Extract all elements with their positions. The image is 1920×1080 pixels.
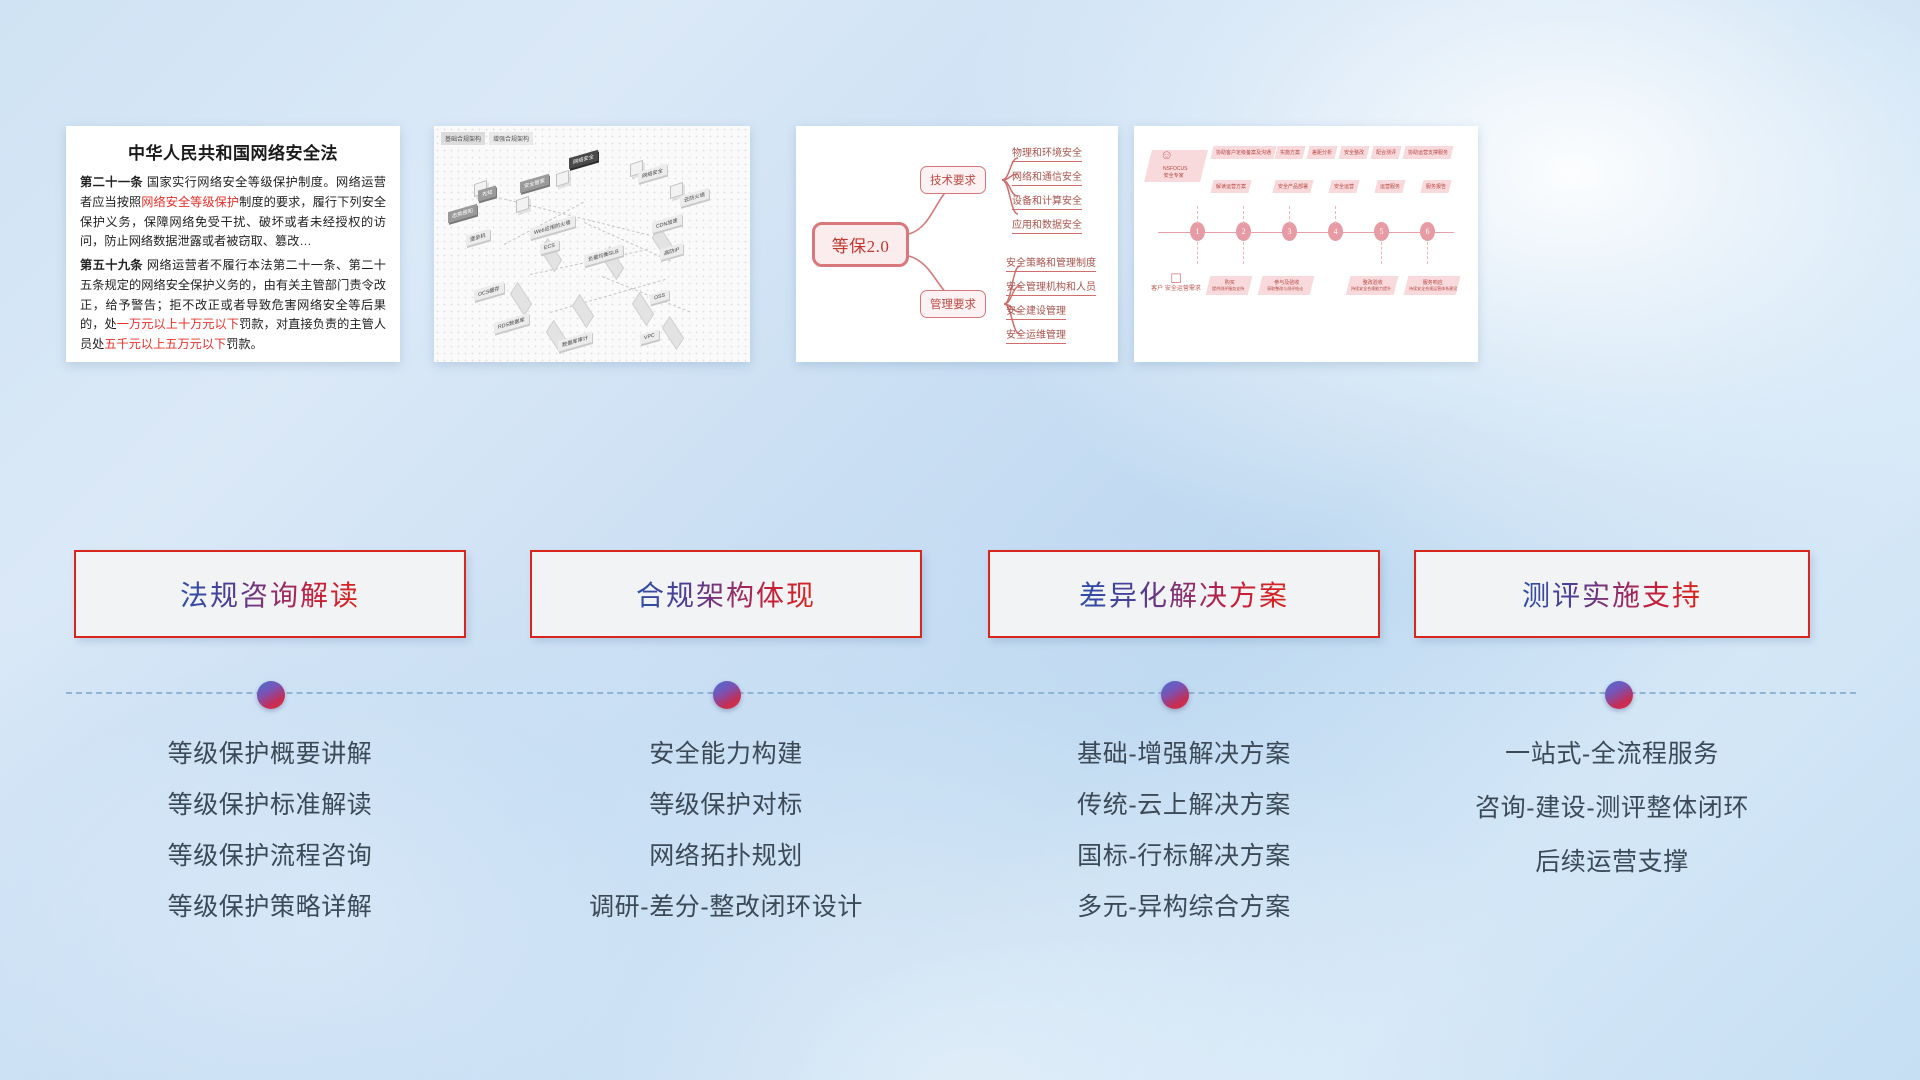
timeline-step-badge: 5 — [1374, 222, 1389, 241]
architecture-node-label: 态势感知 — [448, 204, 477, 223]
service-bottom-chip-title: 服务响应 — [1411, 279, 1455, 286]
person-star-icon: ☺ — [1160, 148, 1173, 161]
mindmap-leaf: 物理和环境安全 — [1012, 144, 1082, 162]
section-heading-box-1[interactable]: 法规咨询解读 — [74, 550, 466, 638]
law-title: 中华人民共和国网络安全法 — [80, 139, 386, 164]
list-item: 安全能力构建 — [530, 742, 922, 767]
service-top-chip: 安全整改 — [1338, 146, 1369, 159]
architecture-node-label: 安全管家 — [520, 174, 549, 193]
card-cybersecurity-law: 中华人民共和国网络安全法 第二十一条 国家实行网络安全等级保护制度。网络运营者应… — [66, 126, 400, 362]
timeline-step-badge: 3 — [1282, 222, 1297, 241]
timeline-tick — [1197, 206, 1198, 224]
card-compliance-architecture: 基础合规架构 增强合规架构 网络安全 — [434, 126, 750, 362]
service-timeline-diagram: NSFOCUS 安全专家 ☺ 协助客户定级备案及沟通 实施方案 差距分析 安全整… — [1134, 126, 1478, 362]
mindmap-leaf: 安全运维管理 — [1006, 326, 1066, 344]
service-top-chip-label: 配合测评 — [1376, 149, 1396, 156]
architecture-diagram: 基础合规架构 增强合规架构 网络安全 — [434, 126, 750, 362]
list-item: 等级保护对标 — [530, 793, 922, 818]
service-top-chip: 实施方案 — [1274, 146, 1305, 159]
list-item: 多元-异构综合方案 — [988, 895, 1380, 920]
mindmap-leaf: 安全策略和管理制度 — [1006, 254, 1096, 272]
service-top-chip: 配合测评 — [1370, 146, 1401, 159]
service-top-chip: 协助运营支撑服务 — [1402, 146, 1453, 159]
timeline-tick — [1335, 206, 1336, 224]
customer-label: 客户 — [1151, 286, 1163, 292]
mindmap-root-node: 等保2.0 — [812, 222, 909, 267]
architecture-node-shape — [516, 196, 529, 213]
service-stage-chip: 安全产品部署 — [1272, 180, 1313, 193]
section-column-2: 安全能力构建 等级保护对标 网络拓扑规划 调研-差分-整改闭环设计 — [530, 742, 922, 946]
article-number-59: 第五十九条 — [80, 258, 143, 272]
mindmap-leaf: 安全管理机构和人员 — [1006, 278, 1096, 296]
architecture-tab-basic[interactable]: 基础合规架构 — [441, 132, 485, 145]
section-column-1: 等级保护概要讲解 等级保护标准解读 等级保护流程咨询 等级保护策略详解 — [74, 742, 466, 946]
customer-sublabel: 安全运营需求 — [1165, 286, 1201, 292]
article-number-21: 第二十一条 — [80, 175, 143, 189]
timeline-marker-1 — [257, 681, 285, 709]
timeline-tick — [1289, 206, 1290, 224]
expert-role: 安全专家 — [1150, 172, 1198, 179]
service-top-chip-label: 差距分析 — [1312, 149, 1332, 156]
section-heading-box-4[interactable]: 测评实施支持 — [1414, 550, 1810, 638]
service-bottom-chip: 整改验收 持续安全合规能力提升 — [1346, 276, 1399, 295]
customer-persona: ☐ 客户 安全运营需求 — [1150, 272, 1202, 293]
list-item: 基础-增强解决方案 — [988, 742, 1380, 767]
section-heading-label: 合规架构体现 — [636, 574, 816, 614]
architecture-node-label: OCS缓存 — [474, 282, 504, 301]
service-top-chip-label: 实施方案 — [1280, 149, 1300, 156]
timeline-step-badge: 2 — [1236, 222, 1251, 241]
law-article-21: 第二十一条 国家实行网络安全等级保护制度。网络运营者应当按照网络安全等级保护制度… — [80, 173, 386, 252]
timeline-marker-4 — [1605, 681, 1633, 709]
section-column-3: 基础-增强解决方案 传统-云上解决方案 国标-行标解决方案 多元-异构综合方案 — [988, 742, 1380, 946]
mindmap-leaf: 网络和通信安全 — [1012, 168, 1082, 186]
architecture-node-shape — [556, 170, 569, 187]
timeline-tick — [1243, 206, 1244, 224]
service-top-chip-label: 安全整改 — [1344, 149, 1364, 156]
timeline-marker-3 — [1161, 681, 1189, 709]
service-bottom-chip-title: 整改验收 — [1353, 279, 1393, 286]
service-bottom-chip-title: 参与及验收 — [1265, 279, 1309, 286]
article-59-after: 罚款。 — [226, 337, 263, 351]
service-bottom-chip-sub: 持续安全合规能力提升 — [1351, 286, 1391, 292]
section-heading-label: 差异化解决方案 — [1079, 574, 1289, 614]
card-service-timeline: NSFOCUS 安全专家 ☺ 协助客户定级备案及沟通 实施方案 差距分析 安全整… — [1134, 126, 1478, 362]
customer-check-icon: ☐ — [1150, 272, 1202, 285]
architecture-node-label: VPC — [640, 329, 659, 344]
service-bottom-chip-sub: 持续安全合规运营体系建设 — [1409, 286, 1453, 292]
service-bottom-chip: 参与及验收 获取整改与测评结论 — [1258, 276, 1315, 295]
expert-icon: ☺ — [1160, 148, 1173, 161]
section-heading-label: 测评实施支持 — [1522, 574, 1702, 614]
list-item: 传统-云上解决方案 — [988, 793, 1380, 818]
service-top-chip: 协助客户定级备案及沟通 — [1210, 146, 1276, 159]
service-bottom-chip-sub: 提供测评服务支持 — [1211, 286, 1245, 292]
service-stage-chip: 服务报告 — [1420, 180, 1451, 193]
mindmap-leaf: 设备和计算安全 — [1012, 192, 1082, 210]
mindmap-branch-management: 管理要求 — [920, 290, 986, 318]
law-article-59: 第五十九条 网络运营者不履行本法第二十一条、第二十五条规定的网络安全保护义务的，… — [80, 256, 386, 355]
list-item: 咨询-建设-测评整体闭环 — [1414, 796, 1810, 821]
service-stage-chip-label: 安全产品部署 — [1278, 183, 1308, 190]
service-top-chip-label: 协助客户定级备案及沟通 — [1216, 149, 1271, 156]
timeline-step-badge: 1 — [1190, 222, 1205, 241]
timeline-step-badge: 4 — [1328, 222, 1343, 241]
list-item: 一站式-全流程服务 — [1414, 742, 1810, 767]
timeline-tick — [1381, 242, 1382, 264]
service-stage-chip-label: 运营服务 — [1380, 183, 1400, 190]
timeline-tick — [1197, 242, 1198, 264]
timeline-marker-2 — [713, 681, 741, 709]
service-top-chip: 差距分析 — [1306, 146, 1337, 159]
service-stage-chip: 解读运营方案 — [1210, 180, 1251, 193]
architecture-node-label: CDN加速 — [652, 214, 682, 233]
architecture-plate — [662, 316, 684, 350]
service-stage-chip-label: 解读运营方案 — [1216, 183, 1246, 190]
section-heading-row: 法规咨询解读 合规架构体现 差异化解决方案 测评实施支持 — [0, 550, 1920, 638]
list-item: 后续运营支撑 — [1414, 850, 1810, 875]
list-item: 等级保护策略详解 — [74, 895, 466, 920]
mindmap-branch-technical: 技术要求 — [920, 166, 986, 194]
architecture-node-label: 云防火墙 — [680, 188, 709, 207]
section-heading-label: 法规咨询解读 — [180, 574, 360, 614]
image-card-row: 中华人民共和国网络安全法 第二十一条 国家实行网络安全等级保护制度。网络运营者应… — [0, 126, 1920, 362]
service-bottom-chip-sub: 获取整改与测评结论 — [1263, 286, 1307, 292]
architecture-node-label: 网络安全 — [569, 150, 598, 169]
section-column-4: 一站式-全流程服务 咨询-建设-测评整体闭环 后续运营支撑 — [1414, 742, 1810, 904]
timeline-step-badge: 6 — [1420, 222, 1435, 241]
expert-persona-chip: NSFOCUS 安全专家 — [1144, 150, 1208, 182]
article-21-highlight: 网络安全等级保护 — [141, 195, 239, 209]
service-stage-chip: 安全运营 — [1328, 180, 1359, 193]
list-item: 等级保护概要讲解 — [74, 742, 466, 767]
mindmap-diagram: 等保2.0 技术要求 管理要求 物理和环境安全 网络和通信安全 设备和计算安全 … — [796, 126, 1118, 362]
architecture-plate — [510, 282, 532, 316]
service-top-chip-label: 协助运营支撑服务 — [1408, 149, 1448, 156]
article-59-fine-1: 一万元以上十万元以下 — [117, 317, 239, 331]
service-bottom-chip: 服务响应 持续安全合规运营体系建设 — [1404, 276, 1461, 295]
card-dengbao-mindmap: 等保2.0 技术要求 管理要求 物理和环境安全 网络和通信安全 设备和计算安全 … — [796, 126, 1118, 362]
architecture-plate — [572, 294, 594, 328]
architecture-tab-bar: 基础合规架构 增强合规架构 — [441, 132, 533, 145]
timeline-tick — [1427, 242, 1428, 264]
service-bottom-chip: 购买 提供测评服务支持 — [1206, 276, 1253, 295]
law-document: 中华人民共和国网络安全法 第二十一条 国家实行网络安全等级保护制度。网络运营者应… — [66, 126, 400, 369]
service-stage-chip-label: 安全运营 — [1334, 183, 1354, 190]
section-heading-box-2[interactable]: 合规架构体现 — [530, 550, 922, 638]
list-item: 网络拓扑规划 — [530, 844, 922, 869]
service-stage-chip-label: 服务报告 — [1426, 183, 1446, 190]
section-heading-box-3[interactable]: 差异化解决方案 — [988, 550, 1380, 638]
timeline-tick — [1243, 242, 1244, 264]
service-bottom-chip-title: 购买 — [1213, 279, 1247, 286]
list-item: 国标-行标解决方案 — [988, 844, 1380, 869]
service-stage-chip: 运营服务 — [1374, 180, 1405, 193]
list-item: 调研-差分-整改闭环设计 — [530, 895, 922, 920]
mindmap-leaf: 应用和数据安全 — [1012, 216, 1082, 234]
list-item: 等级保护标准解读 — [74, 793, 466, 818]
article-59-fine-2: 五千元以上五万元以下 — [104, 337, 226, 351]
timeline-dashed-line — [66, 692, 1856, 694]
list-item: 等级保护流程咨询 — [74, 844, 466, 869]
mindmap-leaf: 安全建设管理 — [1006, 302, 1066, 320]
architecture-node-label: RDS数据库 — [494, 313, 529, 334]
architecture-tab-enhanced[interactable]: 增强合规架构 — [489, 132, 533, 145]
architecture-node-label: 堡垒机 — [466, 229, 490, 247]
